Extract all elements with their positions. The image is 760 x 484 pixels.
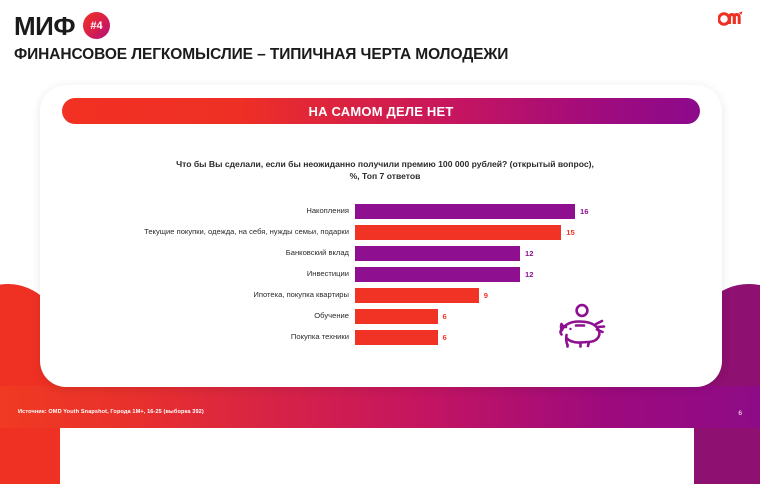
bar-row: Накопления 16 — [60, 203, 670, 220]
bar-category-label: Текущие покупки, одежда, на себя, нужды … — [60, 228, 355, 236]
bar-track: 12 — [355, 267, 670, 282]
bar-value-label: 16 — [580, 207, 588, 216]
bar-track: 6 — [355, 330, 670, 345]
omd-logo-icon — [718, 10, 744, 31]
chart-title: Что бы Вы сделали, если бы неожиданно по… — [170, 158, 600, 183]
bar-value-label: 9 — [484, 291, 488, 300]
slide-subtitle: ФИНАНСОВОЕ ЛЕГКОМЫСЛИЕ – ТИПИЧНАЯ ЧЕРТА … — [14, 46, 508, 64]
page-number: 6 — [738, 410, 742, 417]
bar-value-label: 6 — [443, 333, 447, 342]
bar-fill — [355, 246, 520, 261]
bar-track: 16 — [355, 204, 670, 219]
status-banner: НА САМОМ ДЕЛЕ НЕТ — [62, 98, 700, 124]
slide-header: МИФ #4 ФИНАНСОВОЕ ЛЕГКОМЫСЛИЕ – ТИПИЧНАЯ… — [14, 12, 508, 64]
bar-track: 15 — [355, 225, 670, 240]
bar-value-label: 6 — [443, 312, 447, 321]
status-banner-label: НА САМОМ ДЕЛЕ НЕТ — [309, 104, 454, 119]
bar-category-label: Обучение — [60, 312, 355, 320]
bar-category-label: Ипотека, покупка квартиры — [60, 291, 355, 299]
bar-fill — [355, 330, 438, 345]
bar-category-label: Накопления — [60, 207, 355, 215]
bar-category-label: Покупка техники — [60, 333, 355, 341]
bar-value-label: 12 — [525, 249, 533, 258]
bar-category-label: Банковский вклад — [60, 249, 355, 257]
bar-category-label: Инвестиции — [60, 270, 355, 278]
bar-fill — [355, 204, 575, 219]
footer-gradient-band — [0, 386, 760, 428]
bar-row: Текущие покупки, одежда, на себя, нужды … — [60, 224, 670, 241]
source-note: Источник: OMD Youth Snapshot, Города 1М+… — [18, 409, 204, 415]
bar-fill — [355, 288, 479, 303]
myth-title-row: МИФ #4 — [14, 12, 508, 39]
bar-value-label: 12 — [525, 270, 533, 279]
bar-row: Ипотека, покупка квартиры 9 — [60, 287, 670, 304]
bar-track: 9 — [355, 288, 670, 303]
piggy-bank-icon — [556, 303, 608, 354]
bar-row: Инвестиции 12 — [60, 266, 670, 283]
bar-fill — [355, 267, 520, 282]
bar-fill — [355, 225, 561, 240]
bar-fill — [355, 309, 438, 324]
page-title: МИФ — [14, 13, 75, 39]
myth-number-badge: #4 — [83, 12, 110, 39]
bar-track: 6 — [355, 309, 670, 324]
bar-track: 12 — [355, 246, 670, 261]
bar-value-label: 15 — [566, 228, 574, 237]
bar-row: Банковский вклад 12 — [60, 245, 670, 262]
